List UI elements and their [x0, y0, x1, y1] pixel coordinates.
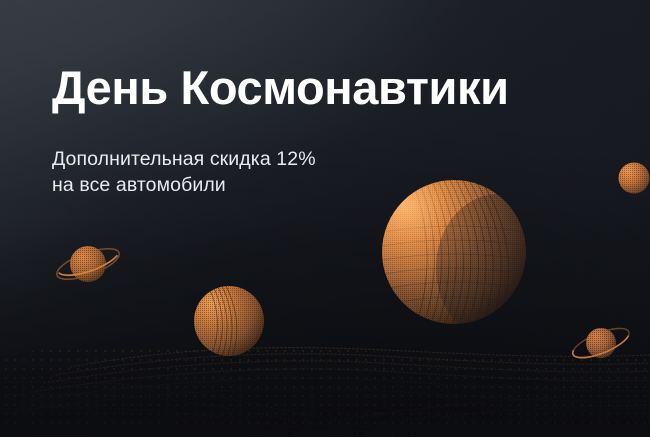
banner-title: День Космонавтики	[52, 60, 509, 116]
planet-small-right	[612, 156, 650, 200]
banner-subtitle: Дополнительная скидка 12% на все автомоб…	[52, 116, 509, 198]
ringed-planet-right	[568, 312, 634, 374]
promo-text-block: День Космонавтики Дополнительная скидка …	[52, 60, 509, 198]
space-day-promo-banner: День Космонавтики Дополнительная скидка …	[0, 0, 650, 437]
ringed-planet-left	[52, 228, 124, 300]
planet-large	[378, 176, 530, 328]
planet-medium	[190, 282, 268, 360]
